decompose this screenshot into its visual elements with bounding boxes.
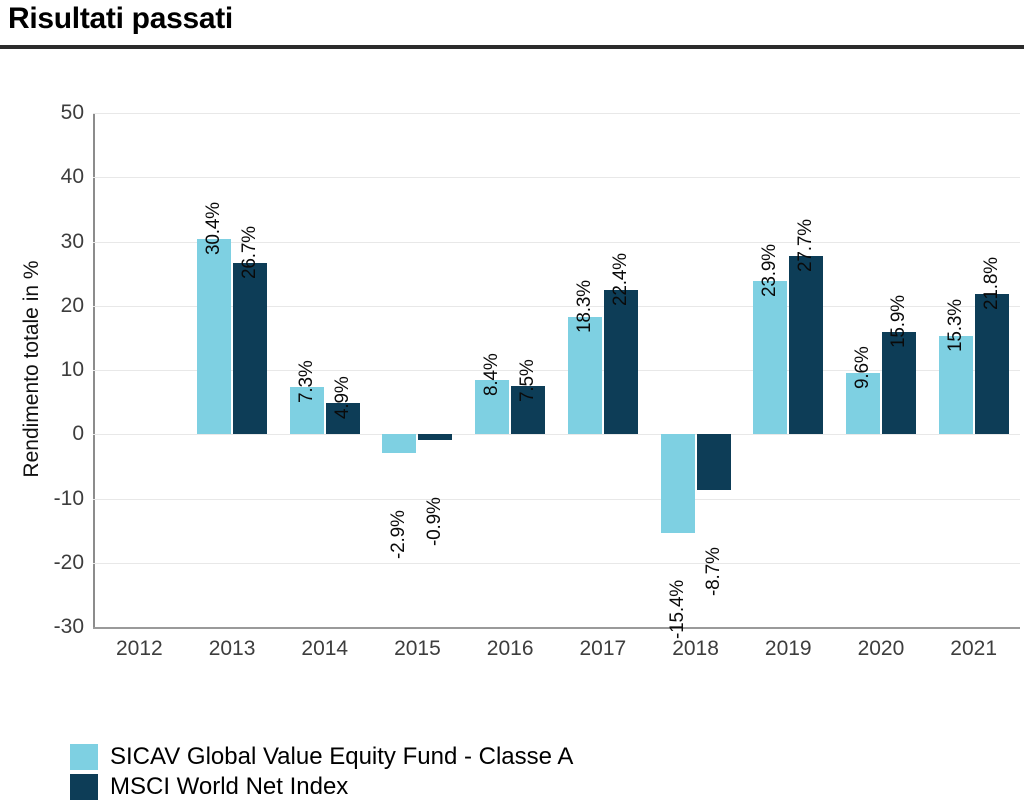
legend-item: SICAV Global Value Equity Fund - Classe …: [70, 742, 770, 772]
gridline: [93, 627, 1020, 629]
y-axis-tick-label: -30: [32, 616, 84, 637]
bar-value-label: 7.5%: [517, 360, 539, 403]
bar: [418, 434, 452, 440]
bar-value-label: 21.8%: [981, 257, 1003, 310]
page-title: Risultati passati: [8, 2, 233, 36]
x-axis-tick-label: 2014: [285, 638, 365, 659]
bar-value-label: 18.3%: [574, 280, 596, 333]
plot-area: 30.4%26.7%7.3%4.9%-2.9%-0.9%8.4%7.5%18.3…: [93, 113, 1020, 627]
bar-value-label: -0.9%: [424, 497, 446, 546]
bar-value-label: 8.4%: [481, 354, 503, 397]
bar: [233, 263, 267, 435]
bar: [975, 294, 1009, 434]
gridline: [93, 113, 1020, 114]
bar: [661, 434, 695, 533]
gridline: [93, 370, 1020, 371]
gridline: [93, 177, 1020, 178]
bar-value-label: 23.9%: [759, 244, 781, 297]
y-axis-tick-label: -10: [32, 488, 84, 509]
bar-value-label: 7.3%: [296, 361, 318, 404]
y-axis-tick-label: 20: [32, 295, 84, 316]
bar-value-label: 27.7%: [795, 219, 817, 272]
y-axis-tick-label: 50: [32, 102, 84, 123]
y-axis-tick-label: 30: [32, 231, 84, 252]
bar-value-label: -15.4%: [667, 580, 689, 639]
legend-color-swatch: [70, 774, 98, 800]
bar-value-label: 9.6%: [852, 346, 874, 389]
bar-value-label: 15.9%: [888, 295, 910, 348]
y-axis-tick-label: 10: [32, 359, 84, 380]
bar: [789, 256, 823, 434]
x-axis-tick-label: 2015: [377, 638, 457, 659]
legend-label: MSCI World Net Index: [110, 775, 348, 799]
bar: [197, 239, 231, 434]
gridline: [93, 306, 1020, 307]
gridline: [93, 434, 1020, 435]
past-performance-bar-chart: Rendimento totale in % 50403020100-10-20…: [0, 52, 1024, 762]
x-axis-tick-label: 2017: [563, 638, 643, 659]
legend-color-swatch: [70, 744, 98, 770]
chart-legend: SICAV Global Value Equity Fund - Classe …: [70, 742, 770, 802]
x-axis-tick-label: 2012: [99, 638, 179, 659]
x-axis-tick-label: 2018: [656, 638, 736, 659]
x-axis-tick-label: 2016: [470, 638, 550, 659]
page-header: Risultati passati: [0, 0, 1024, 52]
x-axis-tick-label: 2019: [748, 638, 828, 659]
x-axis-tick-label: 2020: [841, 638, 921, 659]
bar: [697, 434, 731, 490]
bar-value-label: -8.7%: [703, 548, 725, 597]
bar: [568, 317, 602, 435]
y-axis-tick-label: -20: [32, 552, 84, 573]
y-axis-tick-label: 40: [32, 166, 84, 187]
legend-label: SICAV Global Value Equity Fund - Classe …: [110, 745, 573, 769]
bar: [604, 290, 638, 434]
bar: [753, 281, 787, 435]
bar: [382, 434, 416, 453]
gridline: [93, 242, 1020, 243]
title-divider: [0, 45, 1024, 49]
bar-value-label: 26.7%: [239, 226, 261, 279]
bar-value-label: 15.3%: [945, 299, 967, 352]
y-axis-tick-label: 0: [32, 423, 84, 444]
gridline: [93, 499, 1020, 500]
legend-item: MSCI World Net Index: [70, 772, 770, 802]
x-axis-tick-label: 2021: [934, 638, 1014, 659]
bar-value-label: -2.9%: [388, 510, 410, 559]
x-axis-tick-label: 2013: [192, 638, 272, 659]
bar-value-label: 30.4%: [203, 202, 225, 255]
bar-value-label: 22.4%: [610, 253, 632, 306]
gridline: [93, 563, 1020, 564]
bar-value-label: 4.9%: [332, 376, 354, 419]
